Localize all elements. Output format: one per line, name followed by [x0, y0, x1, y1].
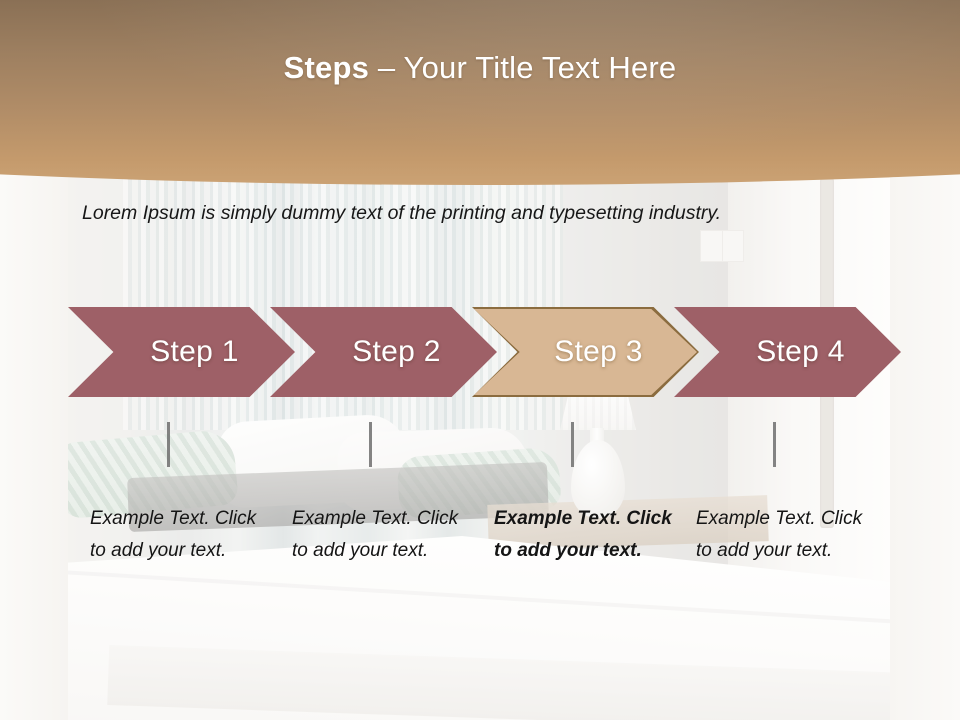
header-highlight	[0, 0, 960, 185]
page-title: Steps – Your Title Text Here	[0, 50, 960, 86]
step-connector-2	[369, 422, 372, 467]
step-caption-2[interactable]: Example Text. Click to add your text.	[292, 503, 478, 566]
slide-canvas: Steps – Your Title Text Here Lorem Ipsum…	[0, 0, 960, 720]
header-banner: Steps – Your Title Text Here	[0, 0, 960, 185]
step-chevron-row: Step 1 Step 2 Step 3 Step 4	[0, 307, 960, 399]
lead-paragraph: Lorem Ipsum is simply dummy text of the …	[82, 198, 890, 230]
page-title-strong: Steps	[284, 50, 369, 85]
step-caption-4[interactable]: Example Text. Click to add your text.	[696, 503, 882, 566]
step-connector-1	[167, 422, 170, 467]
step-chevron-2[interactable]: Step 2	[270, 307, 497, 397]
step-connector-4	[773, 422, 776, 467]
step-connector-3	[571, 422, 574, 467]
step-chevron-label-4: Step 4	[756, 335, 845, 369]
step-chevron-label-2: Step 2	[352, 335, 441, 369]
step-caption-1[interactable]: Example Text. Click to add your text.	[90, 503, 276, 566]
step-chevron-1[interactable]: Step 1	[68, 307, 295, 397]
step-chevron-label-3: Step 3	[554, 335, 643, 369]
step-chevron-4[interactable]: Step 4	[674, 307, 901, 397]
page-title-rest: – Your Title Text Here	[369, 50, 676, 85]
step-chevron-3[interactable]: Step 3	[472, 307, 699, 397]
step-caption-3[interactable]: Example Text. Click to add your text.	[494, 503, 680, 566]
step-chevron-label-1: Step 1	[150, 335, 239, 369]
